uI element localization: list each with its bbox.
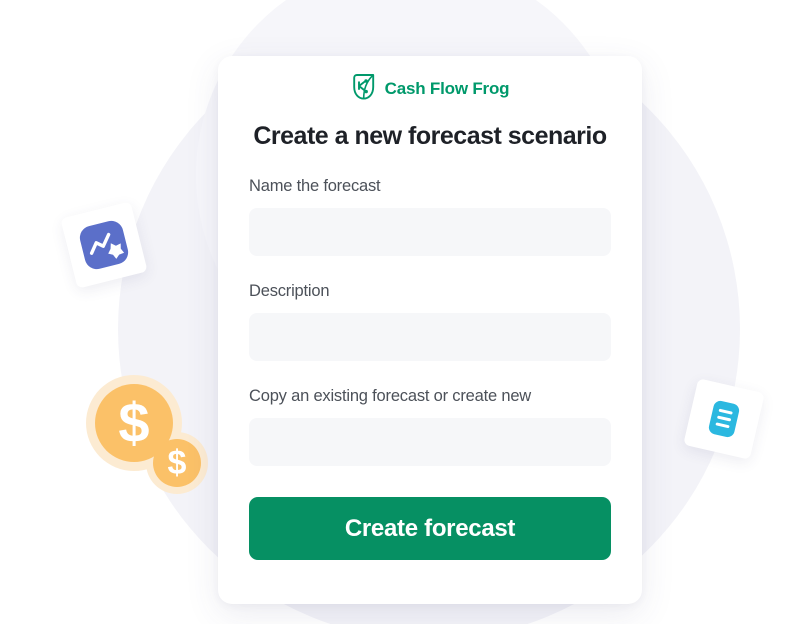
decoration-document-card	[683, 378, 765, 460]
brand-name: Cash Flow Frog	[385, 79, 510, 99]
dollar-coin-small-icon: $	[153, 439, 201, 487]
field-label-forecast-copy-source: Copy an existing forecast or create new	[249, 387, 611, 406]
page-root: $ $ Cash Flow Frog Create a new forecast…	[0, 0, 800, 624]
field-label-forecast-description: Description	[249, 282, 611, 301]
leaf-frog-logo-icon	[351, 73, 377, 106]
forecast-description-input[interactable]	[249, 313, 611, 361]
field-forecast-description: Description	[249, 282, 611, 361]
field-label-forecast-name: Name the forecast	[249, 177, 611, 196]
page-title: Create a new forecast scenario	[249, 122, 611, 151]
field-forecast-name: Name the forecast	[249, 177, 611, 256]
document-lines-icon	[698, 393, 751, 446]
brand-logo: Cash Flow Frog	[249, 62, 611, 116]
forecast-copy-source-input[interactable]	[249, 418, 611, 466]
coin-small-symbol: $	[168, 446, 187, 480]
field-forecast-copy-source: Copy an existing forecast or create new	[249, 387, 611, 466]
line-chart-icon	[75, 216, 133, 274]
create-forecast-button[interactable]: Create forecast	[249, 497, 611, 560]
coin-large-symbol: $	[118, 395, 149, 451]
create-forecast-dialog: Cash Flow Frog Create a new forecast sce…	[218, 56, 642, 604]
forecast-name-input[interactable]	[249, 208, 611, 256]
